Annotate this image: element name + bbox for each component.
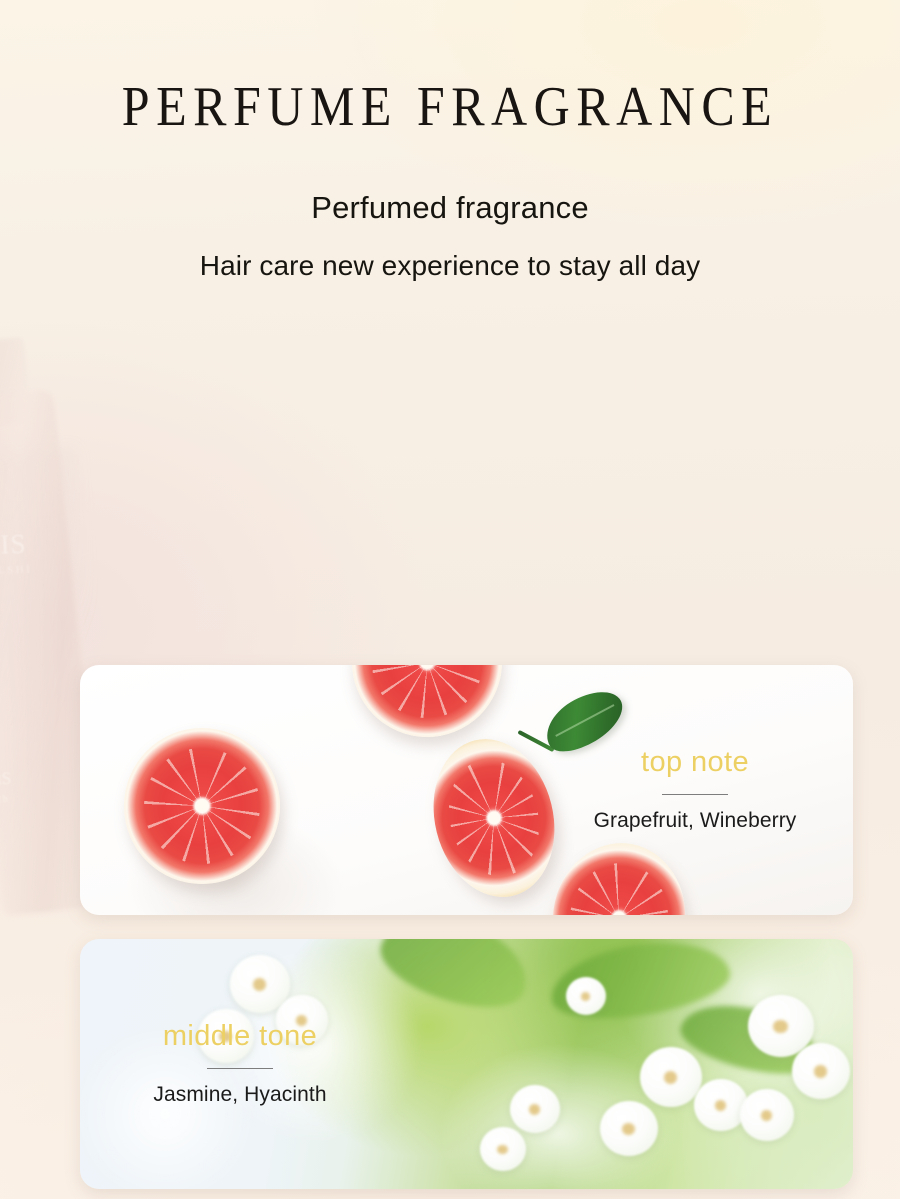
fragrance-card-middle-tone: middle tone Jasmine, Hyacinth — [80, 939, 853, 1189]
watermark-text-line2: Glas — [0, 763, 12, 792]
note-description: Jasmine, Hyacinth — [153, 1083, 326, 1107]
middle-tone-caption: middle tone Jasmine, Hyacinth — [90, 939, 390, 1189]
note-title: middle tone — [163, 1021, 317, 1053]
jasmine-blossom-icon — [740, 1089, 794, 1141]
jasmine-blossom-icon — [510, 1085, 560, 1133]
jasmine-blossom-icon — [694, 1079, 748, 1131]
jasmine-blossom-icon — [566, 977, 606, 1015]
jasmine-blossom-icon — [640, 1047, 702, 1107]
top-note-caption: top note Grapefruit, Wineberry — [545, 665, 845, 915]
fragrance-card-top-note: top note Grapefruit, Wineberry — [80, 665, 853, 915]
note-description: Grapefruit, Wineberry — [594, 809, 797, 833]
subtitle: Perfumed fragrance — [0, 190, 900, 226]
page-background: DAIS IONALSHI Glas Smooth PERFUME FRAGRA… — [0, 0, 900, 1199]
note-divider — [207, 1068, 273, 1070]
note-title: top note — [641, 747, 749, 779]
watermark-text-line1: DAIS — [0, 529, 27, 561]
note-divider — [662, 794, 728, 796]
page-title: PERFUME FRAGRANCE — [0, 78, 900, 134]
watermark-text-primary: DAIS IONALSHI — [0, 525, 130, 578]
jasmine-blossom-icon — [792, 1043, 850, 1099]
header: PERFUME FRAGRANCE Perfumed fragrance Hai… — [0, 78, 900, 282]
jasmine-blossom-icon — [600, 1101, 658, 1156]
grapefruit-slice-icon — [124, 728, 280, 884]
tagline: Hair care new experience to stay all day — [0, 250, 900, 282]
jasmine-blossom-icon — [480, 1127, 526, 1171]
